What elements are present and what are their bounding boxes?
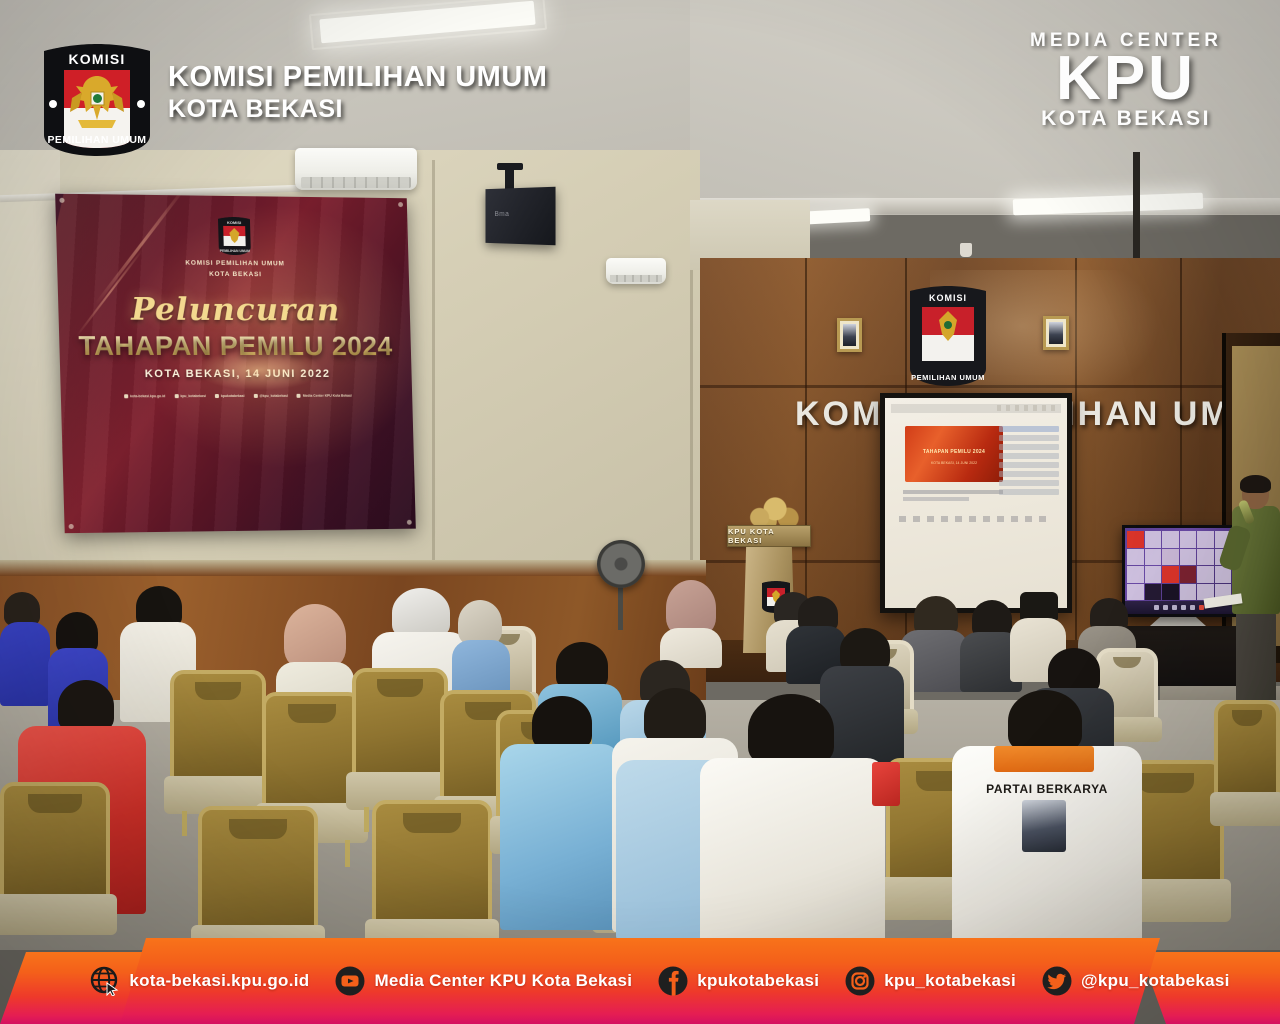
instagram-icon (174, 394, 178, 398)
ac-vent (301, 177, 411, 188)
wall-seam (690, 230, 693, 580)
projection-screen: TAHAPAN PEMILU 2024 KOTA BEKASI, 14 JUNI… (885, 398, 1067, 608)
list-item (999, 426, 1059, 432)
footer-label-facebook: kpukotabekasi (697, 971, 819, 991)
hair (556, 642, 608, 690)
chair (0, 782, 110, 952)
svg-text:PEMILIHAN UMUM: PEMILIHAN UMUM (220, 249, 250, 253)
ceiling-fixture (960, 243, 972, 257)
shirt-portrait-print (1022, 800, 1066, 852)
shirt-text: PARTAI BERKARYA (952, 782, 1142, 796)
instagram-icon (845, 966, 875, 996)
banner-title: TAHAPAN PEMILU 2024 (59, 331, 411, 362)
banner-grommet (398, 202, 403, 207)
hair (748, 694, 834, 766)
kpu-garuda-emblem-icon: KOMISI PEMILIHAN UMUM (38, 42, 156, 158)
banner-script-word: Peluncuran (58, 291, 410, 328)
participant-tile (1162, 584, 1179, 601)
footer-label-website: kota-bekasi.kpu.go.id (129, 971, 309, 991)
header-line-1: KOMISI PEMILIHAN UMUM (168, 62, 547, 92)
participant-tile (1162, 549, 1179, 566)
participant-tile (1180, 531, 1197, 548)
kpu-wall-emblem-icon: KOMISI PEMILIHAN UMUM (906, 285, 990, 387)
footer-label-youtube: Media Center KPU Kota Bekasi (374, 971, 632, 991)
participant-tile (1145, 566, 1162, 583)
svg-text:KOMISI: KOMISI (227, 220, 241, 225)
list-item (999, 489, 1059, 495)
footer-label-twitter: @kpu_kotabekasi (1081, 971, 1230, 991)
header-title-block: KOMISI PEMILIHAN UMUM KOTA BEKASI (168, 62, 547, 123)
footer-item-youtube[interactable]: Media Center KPU Kota Bekasi (335, 966, 632, 996)
screen-sidebar-list (999, 426, 1059, 498)
banner-date: KOTA BEKASI, 14 JUNI 2022 (60, 368, 412, 380)
standing-fan (597, 540, 645, 588)
list-item (999, 462, 1059, 468)
participant-tile (1145, 584, 1162, 601)
participant-tile (1162, 566, 1179, 583)
fan-pole (618, 585, 623, 630)
participant-tile (1127, 549, 1144, 566)
participant-tile (1127, 566, 1144, 583)
youtube-icon (335, 966, 365, 996)
participant-tile (1197, 549, 1214, 566)
event-backdrop-banner: KOMISI PEMILIHAN UMUM KOMISI PEMILIHAN U… (55, 194, 416, 534)
banner-social-label: @kpu_kotabekasi (259, 394, 288, 398)
podium-label: KPU KOTA BEKASI (728, 526, 810, 546)
screen-toolbar-icons (997, 405, 1057, 411)
banner-social-label: kota-bekasi.kpu.go.id (130, 394, 165, 398)
participant-tile (1145, 531, 1162, 548)
participant-tile (1197, 531, 1214, 548)
screen-text-line (903, 490, 1003, 494)
header-line-2: KOTA BEKASI (168, 96, 547, 122)
air-conditioner-unit-1 (295, 148, 417, 190)
framed-portrait-vice-president (1043, 316, 1069, 350)
white-shirt (700, 758, 885, 948)
svg-text:KOMISI: KOMISI (69, 51, 126, 67)
screen-text-line (903, 497, 969, 501)
svg-text:KOMISI: KOMISI (929, 293, 967, 303)
leave-meeting-icon[interactable] (1199, 605, 1204, 610)
air-conditioner-unit-2 (606, 258, 666, 284)
svg-text:PEMILIHAN UMUM: PEMILIHAN UMUM (48, 134, 147, 146)
screen-thumb-subtitle: KOTA BEKASI, 14 JUNI 2022 (931, 461, 977, 465)
presenter-hair (1240, 475, 1271, 493)
footer-item-twitter[interactable]: @kpu_kotabekasi (1042, 966, 1230, 996)
footer-item-instagram[interactable]: kpu_kotabekasi (845, 966, 1016, 996)
hair (58, 680, 114, 732)
chair (1214, 700, 1280, 840)
footer-item-facebook[interactable]: kpukotabekasi (658, 966, 819, 996)
banner-social-label: kpu_kotabekasi (180, 394, 206, 398)
footer-items: kota-bekasi.kpu.go.id Media Center KPU K… (0, 938, 1280, 1024)
globe-icon (124, 394, 128, 398)
hair (532, 696, 592, 750)
participant-tile (1145, 549, 1162, 566)
participant-tile (1180, 584, 1197, 601)
screen-video-thumbnail: TAHAPAN PEMILU 2024 KOTA BEKASI, 14 JUNI… (905, 426, 1003, 482)
white-hair (392, 588, 450, 638)
hijab (284, 604, 346, 670)
audience-member (660, 580, 722, 664)
screen-thumb-title: TAHAPAN PEMILU 2024 (923, 449, 985, 455)
list-item (999, 471, 1059, 477)
chat-icon[interactable] (1181, 605, 1186, 610)
youtube-icon (297, 394, 301, 398)
mic-icon[interactable] (1154, 605, 1159, 610)
ac-vent (610, 275, 662, 282)
audience-member-foreground (700, 694, 885, 940)
video-conference-grid (1127, 531, 1231, 600)
list-item (999, 444, 1059, 450)
hair (4, 592, 40, 626)
participant-tile (1127, 531, 1144, 548)
facebook-icon (658, 966, 688, 996)
banner-social-item: kota-bekasi.kpu.go.id (124, 394, 165, 398)
peci-cap (1020, 592, 1058, 620)
torso (500, 744, 620, 930)
banner-social-item: @kpu_kotabekasi (253, 394, 288, 398)
participant-tile (1180, 566, 1197, 583)
watermark-line-2: KPU (1016, 50, 1236, 109)
audience-member-partai-berkarya: PARTAI BERKARYA (952, 690, 1142, 940)
participants-icon[interactable] (1172, 605, 1177, 610)
banner-grommet (407, 520, 412, 525)
participant-tile (1197, 566, 1214, 583)
footer-social-bar: kota-bekasi.kpu.go.id Media Center KPU K… (0, 932, 1280, 1024)
screenshot-root: Bma KOMISI PEMILIHAN UMUM KOMISI PEMILIH… (0, 0, 1280, 1024)
list-item (999, 435, 1059, 441)
podium-nameplate: KPU KOTA BEKASI (727, 525, 811, 547)
participant-tile (1180, 549, 1197, 566)
banner-kpu-emblem-icon: KOMISI PEMILIHAN UMUM (217, 216, 252, 256)
screen-footer-row (899, 516, 1053, 522)
torso (452, 640, 510, 696)
ceiling-speaker: Bma (486, 187, 556, 246)
twitter-icon (1042, 966, 1072, 996)
projection-screen-frame: TAHAPAN PEMILU 2024 KOTA BEKASI, 14 JUNI… (880, 393, 1072, 613)
banner-social-label: Media Center KPU Kota Bekasi (303, 394, 352, 398)
wall-seam (432, 160, 435, 580)
twitter-icon (253, 394, 257, 398)
audience-member (500, 696, 620, 926)
media-center-watermark: MEDIA CENTER KPU KOTA BEKASI (1016, 30, 1236, 131)
hair (1008, 690, 1082, 752)
list-item (999, 480, 1059, 486)
banner-social-item: kpukotabekasi (215, 394, 245, 398)
banner-social-item: Media Center KPU Kota Bekasi (297, 394, 352, 398)
list-item (999, 453, 1059, 459)
facebook-icon (215, 394, 219, 398)
banner-social-item: kpu_kotabekasi (174, 394, 206, 398)
participant-tile (1162, 531, 1179, 548)
globe-icon (90, 966, 120, 996)
watermark-line-3: KOTA BEKASI (1016, 107, 1236, 131)
phone-in-hand (872, 762, 908, 812)
footer-item-website[interactable]: kota-bekasi.kpu.go.id (90, 966, 309, 996)
banner-grommet (69, 524, 74, 529)
svg-text:PEMILIHAN UMUM: PEMILIHAN UMUM (911, 373, 985, 382)
footer-label-instagram: kpu_kotabekasi (884, 971, 1016, 991)
audience-member (452, 600, 510, 692)
banner-grommet (59, 198, 64, 203)
camera-icon[interactable] (1163, 605, 1168, 610)
orange-collar (994, 746, 1094, 772)
banner-social-label: kpukotabekasi (221, 394, 245, 398)
speaker-brand-label: Bma (495, 211, 510, 218)
smartphone (872, 762, 900, 806)
framed-portrait-president (837, 318, 862, 352)
share-screen-icon[interactable] (1190, 605, 1195, 610)
left-wall-corner (0, 150, 60, 580)
